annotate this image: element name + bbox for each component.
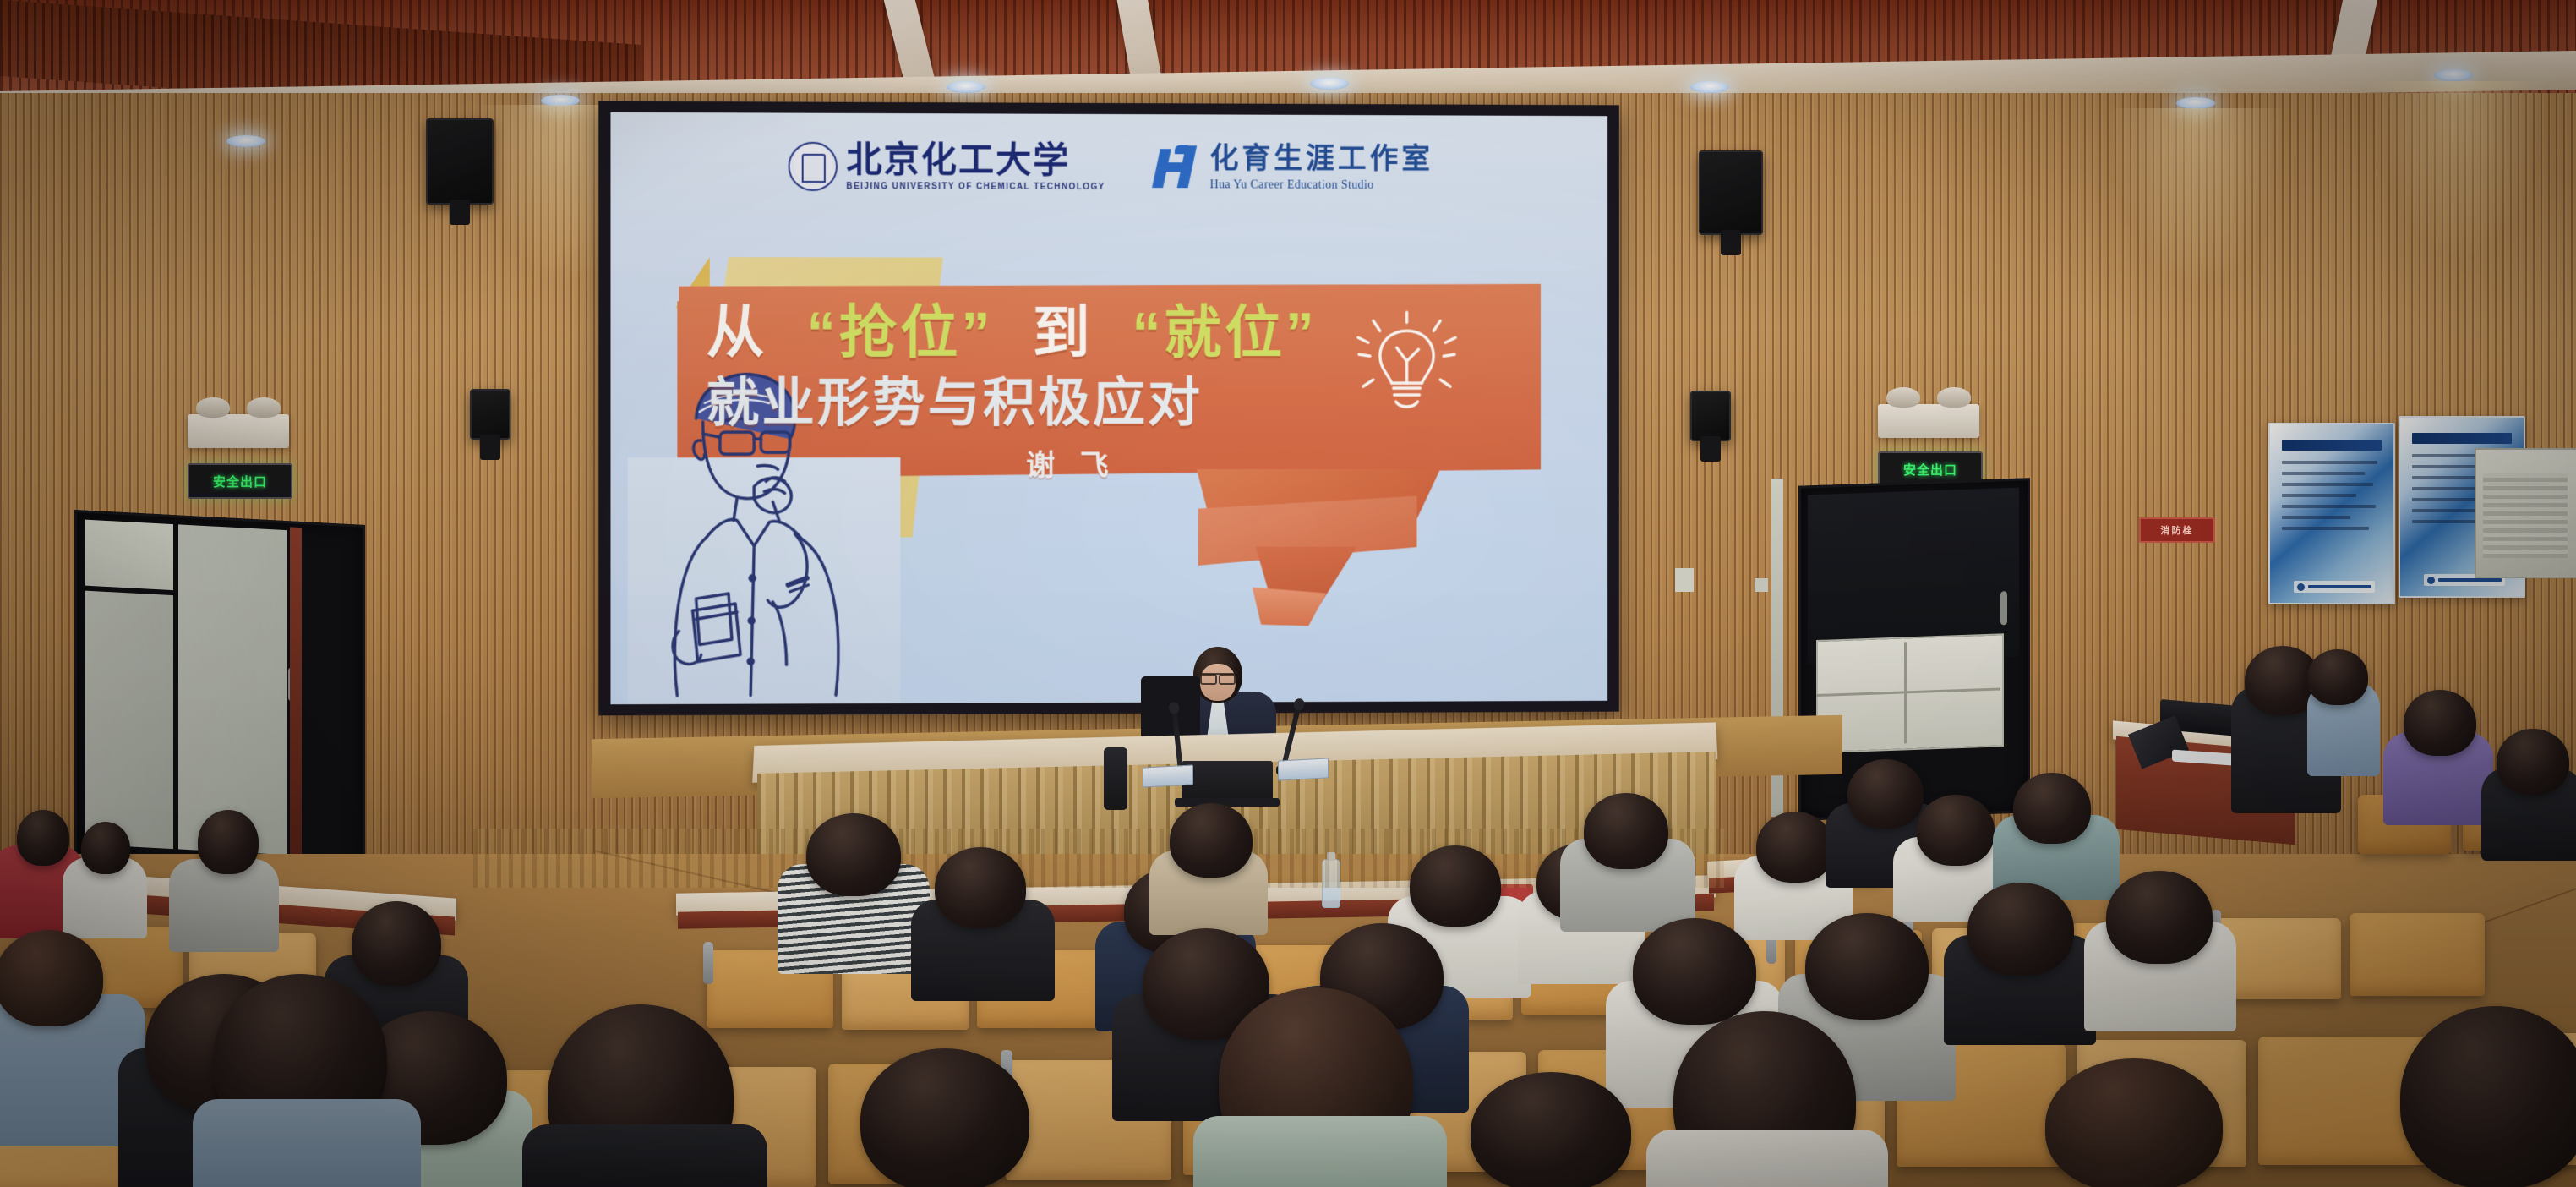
emergency-light-right	[1878, 404, 1979, 438]
huayu-h-mark-icon	[1153, 144, 1202, 191]
poster-footer-logo	[2294, 581, 2375, 593]
attendee-head	[0, 930, 103, 1026]
huayu-logo-cn: 化育生涯工作室	[1209, 145, 1433, 174]
foreground-attendee-head	[2400, 1006, 2576, 1187]
ceiling-downlight	[1310, 78, 1349, 90]
wall-speaker-small-right	[1690, 391, 1731, 441]
thermos-bottle	[1104, 747, 1127, 810]
attendee-head	[1847, 759, 1924, 829]
fire-hydrant-sign: 消防栓	[2139, 517, 2215, 543]
title-quote-2: “就位”	[1132, 301, 1317, 365]
emergency-light-left	[188, 414, 289, 448]
ceiling-downlight	[541, 95, 580, 107]
attendee-head	[935, 847, 1026, 928]
safety-poster-1	[2268, 423, 2395, 604]
projection-screen: 北京化工大学 BEIJING UNIVERSITY OF CHEMICAL TE…	[610, 112, 1607, 704]
slide-logo-row: 北京化工大学 BEIJING UNIVERSITY OF CHEMICAL TE…	[610, 129, 1607, 205]
ceiling-downlight	[226, 135, 265, 147]
attendee-head	[1917, 795, 1995, 866]
foreground-attendee-body	[193, 1099, 421, 1187]
wall-speaker-small-left	[470, 389, 510, 440]
attendee-head	[1756, 812, 1834, 883]
attendee-head	[2013, 773, 2091, 844]
attendee-head	[806, 813, 901, 896]
attendee-head	[2307, 649, 2368, 705]
presenter-glasses-icon	[1200, 673, 1236, 682]
origami-ribbon-tail	[1253, 587, 1327, 626]
poster-title-bar	[2282, 440, 2382, 451]
ac-vent-louvers	[2483, 473, 2568, 558]
projection-screen-frame: 北京化工大学 BEIJING UNIVERSITY OF CHEMICAL TE…	[598, 101, 1619, 716]
ceiling-downlight	[2176, 97, 2215, 109]
title-quote-1: “抢位”	[807, 301, 994, 365]
ceiling-downlight	[2434, 69, 2473, 81]
attendee-head	[1967, 883, 2074, 976]
exit-sign-label: 安全出口	[1903, 461, 1957, 479]
emergency-lamp	[188, 414, 289, 448]
buct-logo-cn: 北京化工大学	[846, 142, 1105, 178]
title-prefix: 从	[707, 300, 768, 364]
wall-speaker-right	[1699, 150, 1763, 235]
buct-seal-icon	[789, 142, 838, 191]
attendee-head	[2404, 690, 2476, 756]
lightbulb-icon	[1356, 309, 1457, 427]
foreground-attendee-head	[860, 1048, 1029, 1187]
attendee-head	[2497, 729, 2569, 795]
door-handle[interactable]	[2000, 591, 2007, 625]
lecture-hall-photo: 安全出口 安全出口 消防栓	[0, 0, 2576, 1187]
attendee-head	[1584, 793, 1668, 869]
emergency-lamp	[1878, 404, 1979, 438]
attendee-head	[1633, 918, 1756, 1025]
attendee-head	[1170, 803, 1253, 878]
huayu-logo: 化育生涯工作室 Hua Yu Career Education Studio	[1153, 144, 1433, 192]
attendee-head	[2106, 871, 2213, 964]
exit-sign-label: 安全出口	[213, 473, 267, 490]
buct-logo-en: BEIJING UNIVERSITY OF CHEMICAL TECHNOLOG…	[846, 183, 1105, 192]
buct-logo: 北京化工大学 BEIJING UNIVERSITY OF CHEMICAL TE…	[789, 142, 1105, 192]
wall-speaker-left	[426, 118, 494, 205]
huayu-logo-en: Hua Yu Career Education Studio	[1209, 179, 1433, 192]
exit-sign-left: 安全出口	[188, 463, 292, 499]
attendee-head	[1410, 845, 1501, 927]
nameplate-left	[1143, 764, 1193, 787]
foreground-attendee-head	[2045, 1058, 2223, 1187]
nameplate-right	[1278, 758, 1329, 780]
wall-switch-plate[interactable]	[1675, 568, 1694, 592]
attendee-head	[17, 810, 69, 866]
seat[interactable]	[2350, 913, 2485, 996]
ceiling-downlight	[947, 81, 985, 93]
foreground-attendee-body	[522, 1124, 767, 1187]
wall-sensor	[1755, 578, 1768, 592]
seat-armrest	[703, 942, 713, 984]
ceiling-downlight	[1690, 81, 1729, 93]
laptop[interactable]	[1182, 761, 1273, 800]
foreground-attendee-body	[1646, 1130, 1888, 1187]
foreground-attendee-body	[1193, 1116, 1447, 1187]
slide-presenter-name: 谢 飞	[707, 442, 1434, 484]
attendee-head	[1805, 913, 1929, 1020]
attendee-head	[352, 901, 441, 986]
fire-sign-label: 消防栓	[2161, 523, 2194, 537]
title-mid: 到	[1033, 301, 1094, 365]
foreground-attendee-head	[1471, 1072, 1631, 1187]
attendee-head	[198, 810, 259, 874]
poster-title-bar	[2412, 433, 2512, 444]
attendee-head	[81, 822, 130, 874]
